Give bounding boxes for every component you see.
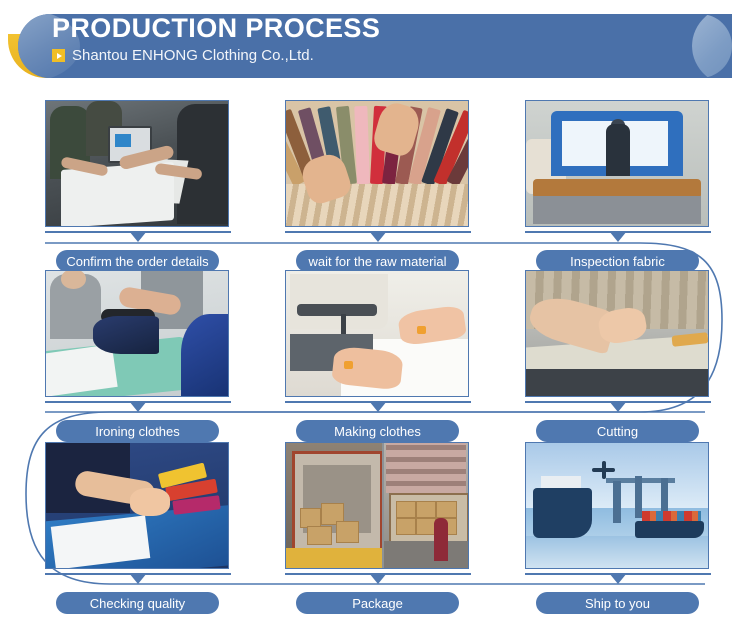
arrow-down-icon: [369, 401, 387, 412]
step-photo: [525, 442, 709, 569]
step-photo: [285, 270, 469, 397]
step-label-pill[interactable]: Ship to you: [536, 592, 699, 614]
process-step-package[interactable]: Package: [285, 442, 471, 569]
arrow-down-icon: [129, 231, 147, 242]
step-label-pill[interactable]: Ironing clothes: [56, 420, 219, 442]
step-label-pill[interactable]: Inspection fabric: [536, 250, 699, 272]
arrow-down-icon: [609, 401, 627, 412]
step-label: wait for the raw material: [309, 254, 447, 269]
process-step-wait-for-the-raw-material[interactable]: wait for the raw material: [285, 100, 471, 227]
arrow-down-icon: [129, 573, 147, 584]
company-name-row: Shantou ENHONG Clothing Co.,Ltd.: [52, 47, 314, 64]
ribbon-right-wave-icon: [692, 14, 732, 78]
process-row-2: Ironing clothes Making clothes C: [0, 270, 750, 440]
step-label: Making clothes: [334, 424, 421, 439]
process-step-cutting[interactable]: Cutting: [525, 270, 711, 397]
step-label: Ironing clothes: [95, 424, 180, 439]
step-label: Ship to you: [585, 596, 650, 611]
step-photo: [45, 270, 229, 397]
process-step-ironing-clothes[interactable]: Ironing clothes: [45, 270, 231, 397]
step-photo: [525, 270, 709, 397]
step-label: Package: [352, 596, 403, 611]
step-photo: [45, 442, 229, 569]
process-step-ship-to-you[interactable]: Ship to you: [525, 442, 711, 569]
process-row-1: Confirm the order details: [0, 100, 750, 270]
step-label-pill[interactable]: Making clothes: [296, 420, 459, 442]
page-title: PRODUCTION PROCESS: [52, 13, 380, 44]
header-banner-right-cap: [678, 14, 732, 78]
step-label: Confirm the order details: [66, 254, 208, 269]
arrow-down-icon: [609, 231, 627, 242]
process-step-confirm-the-order-details[interactable]: Confirm the order details: [45, 100, 231, 227]
process-step-inspection-fabric[interactable]: Inspection fabric: [525, 100, 711, 227]
step-label-pill[interactable]: Confirm the order details: [56, 250, 219, 272]
arrow-down-icon: [609, 573, 627, 584]
play-triangle-icon: [52, 49, 65, 62]
step-label-pill[interactable]: Package: [296, 592, 459, 614]
arrow-down-icon: [369, 573, 387, 584]
company-name: Shantou ENHONG Clothing Co.,Ltd.: [72, 47, 314, 64]
step-label-pill[interactable]: Cutting: [536, 420, 699, 442]
step-label: Cutting: [597, 424, 638, 439]
arrow-down-icon: [369, 231, 387, 242]
step-photo: [285, 442, 469, 569]
step-label: Inspection fabric: [570, 254, 665, 269]
step-label-pill[interactable]: Checking quality: [56, 592, 219, 614]
process-step-making-clothes[interactable]: Making clothes: [285, 270, 471, 397]
arrow-down-icon: [129, 401, 147, 412]
step-photo: [285, 100, 469, 227]
page-header: PRODUCTION PROCESS Shantou ENHONG Clothi…: [0, 0, 750, 95]
process-row-3: Checking quality: [0, 442, 750, 612]
step-label-pill[interactable]: wait for the raw material: [296, 250, 459, 272]
process-step-checking-quality[interactable]: Checking quality: [45, 442, 231, 569]
step-label: Checking quality: [90, 596, 185, 611]
step-photo: [525, 100, 709, 227]
step-photo: [45, 100, 229, 227]
